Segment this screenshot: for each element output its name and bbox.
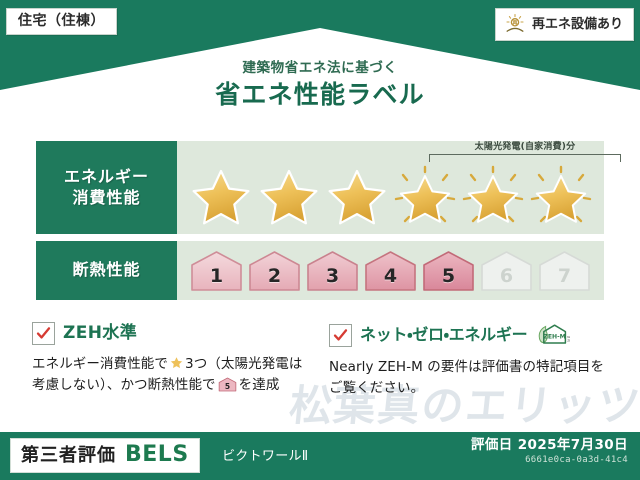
criterion-text-pre: エネルギー消費性能で [32, 356, 168, 372]
insulation-level-badge: 3 [305, 249, 360, 293]
footer-bar: 第三者評価 BELS ビクトワールⅡ 評価日 2025年7月30日 6661e0… [0, 432, 640, 480]
renewable-badge-label: 再エネ設備あり [532, 18, 623, 31]
insulation-level-badge-inactive: 6 [479, 249, 534, 293]
title-block: 建築物省エネ法に基づく 省エネ性能ラベル [0, 60, 640, 110]
star-icon-solar [393, 165, 457, 229]
svg-text:ZEH-M: ZEH-M [544, 333, 566, 340]
insulation-level-value: 6 [500, 267, 513, 293]
bels-logo-text: BELS [125, 444, 189, 466]
svg-text:5: 5 [225, 382, 230, 391]
energy-label-line1: エネルギー [64, 167, 149, 187]
evaluation-id: 6661e0ca-0a3d-41c4 [471, 456, 628, 465]
insulation-level-badge-inactive: 7 [537, 249, 592, 293]
criteria-section: ZEH水準 エネルギー消費性能で3つ（太陽光発電は考慮しない）、かつ断熱性能で5… [32, 322, 612, 399]
criterion-description: エネルギー消費性能で3つ（太陽光発電は考慮しない）、かつ断熱性能で5を達成 [32, 354, 315, 396]
criterion-title: ネット・ゼロ・エネルギー [360, 327, 527, 343]
star-icon [257, 165, 321, 229]
renewable-equipment-badge: 再 再エネ設備あり [495, 8, 634, 41]
zeh-m-logo-icon: ZEH-M Nearly ZEH-M [536, 322, 570, 348]
star-icon [325, 165, 389, 229]
evaluation-date: 評価日 2025年7月30日 [471, 437, 628, 453]
solar-annotation-label: 太陽光発電(自家消費)分 [429, 143, 621, 152]
insulation-level-value: 5 [442, 267, 455, 293]
inline-star-icon [169, 355, 184, 370]
energy-performance-body: 太陽光発電(自家消費)分 [177, 141, 604, 234]
insulation-level-value: 1 [210, 267, 223, 293]
insulation-level-value: 2 [268, 267, 281, 293]
insulation-performance-body: 1 2 3 4 [177, 241, 604, 300]
svg-text:ZEH-M: ZEH-M [567, 338, 570, 342]
insulation-level-badge: 1 [189, 249, 244, 293]
insulation-level-badge: 2 [247, 249, 302, 293]
solar-annotation: 太陽光発電(自家消費)分 [429, 143, 621, 162]
grading-table: エネルギー 消費性能 太陽光発電(自家消費)分 [36, 141, 604, 300]
star-icon-solar [461, 165, 525, 229]
criterion-zeh-level: ZEH水準 エネルギー消費性能で3つ（太陽光発電は考慮しない）、かつ断熱性能で5… [32, 322, 315, 399]
criterion-description: Nearly ZEH-M の要件は評価書の特記項目をご覧ください。 [329, 357, 612, 399]
insulation-level-scale: 1 2 3 4 [177, 241, 604, 300]
insulation-level-value: 3 [326, 267, 339, 293]
energy-label-line2: 消費性能 [72, 188, 140, 208]
star-icon-solar [529, 165, 593, 229]
checkbox-checked-icon[interactable] [329, 324, 352, 347]
building-name: ビクトワールⅡ [222, 450, 309, 463]
star-icon [189, 165, 253, 229]
solar-bracket [429, 154, 621, 162]
insulation-performance-label: 断熱性能 [36, 241, 177, 300]
star-rating [177, 165, 604, 229]
insulation-performance-row: 断熱性能 1 2 [36, 241, 604, 300]
criterion-net-zero-energy: ネット・ゼロ・エネルギー ZEH-M Nearly ZEH-M Nearly Z… [329, 322, 612, 399]
page-title: 省エネ性能ラベル [0, 80, 640, 110]
insulation-level-badge-achieved: 5 [421, 249, 476, 293]
energy-performance-label: エネルギー 消費性能 [36, 141, 177, 234]
evaluation-info: 評価日 2025年7月30日 6661e0ca-0a3d-41c4 [471, 437, 628, 465]
criterion-title: ZEH水準 [63, 325, 137, 342]
checkbox-checked-icon[interactable] [32, 322, 55, 345]
sun-icon: 再 [504, 13, 526, 35]
svg-text:再: 再 [512, 19, 517, 26]
insulation-level-badge: 4 [363, 249, 418, 293]
category-tag: 住宅（住棟） [6, 8, 117, 35]
title-subtitle: 建築物省エネ法に基づく [0, 60, 640, 76]
insulation-level-value: 7 [558, 267, 571, 293]
energy-performance-row: エネルギー 消費性能 太陽光発電(自家消費)分 [36, 141, 604, 234]
inline-insulation-badge: 5 [218, 377, 237, 392]
criterion-text-post: を達成 [239, 377, 280, 393]
bels-jp-label: 第三者評価 [21, 447, 116, 465]
criterion-header: ネット・ゼロ・エネルギー ZEH-M Nearly ZEH-M [329, 322, 612, 348]
bels-certification-box: 第三者評価 BELS [10, 438, 200, 473]
criterion-header: ZEH水準 [32, 322, 315, 345]
insulation-level-value: 4 [384, 267, 397, 293]
energy-performance-label: 住宅（住棟） 再 再エネ設備あり 建築物省エネ法に基づく 省エネ性能ラベル [0, 0, 640, 480]
